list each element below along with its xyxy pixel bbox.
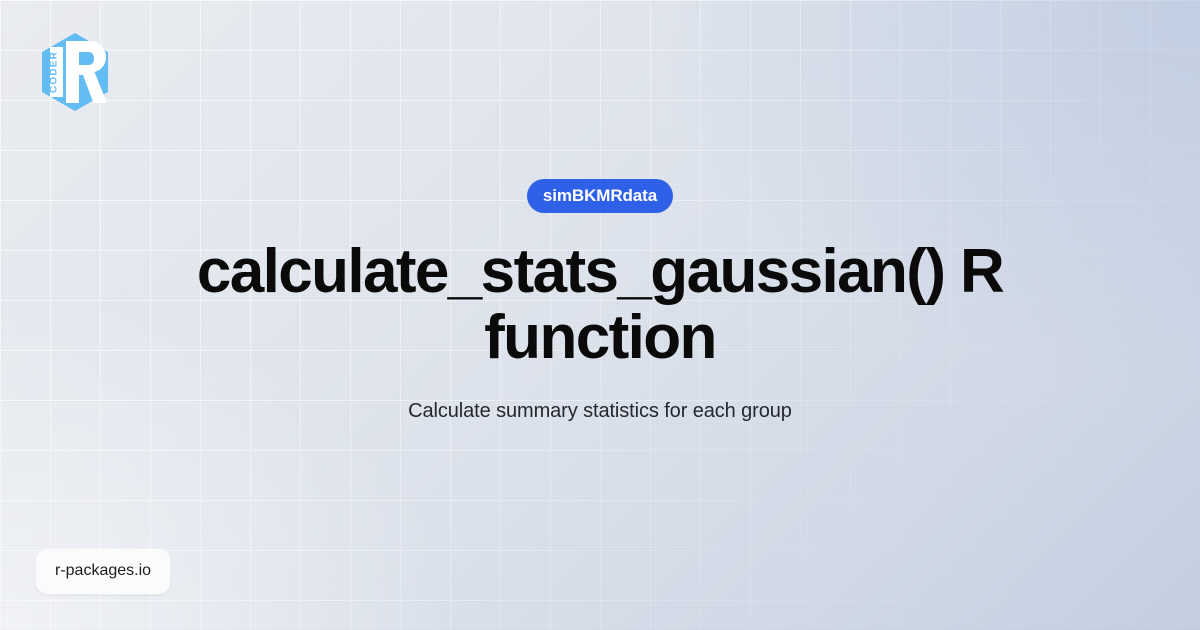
hero-block: simBKMRdata calculate_stats_gaussian() R… — [0, 0, 1200, 630]
package-badge[interactable]: simBKMRdata — [527, 179, 673, 213]
site-name-pill[interactable]: r-packages.io — [36, 549, 170, 594]
page-subtitle: Calculate summary statistics for each gr… — [408, 398, 792, 425]
page-title: calculate_stats_gaussian() R function — [90, 239, 1110, 370]
og-card-canvas: CODER simBKMRdata calculate_stats_gaussi… — [0, 0, 1200, 630]
